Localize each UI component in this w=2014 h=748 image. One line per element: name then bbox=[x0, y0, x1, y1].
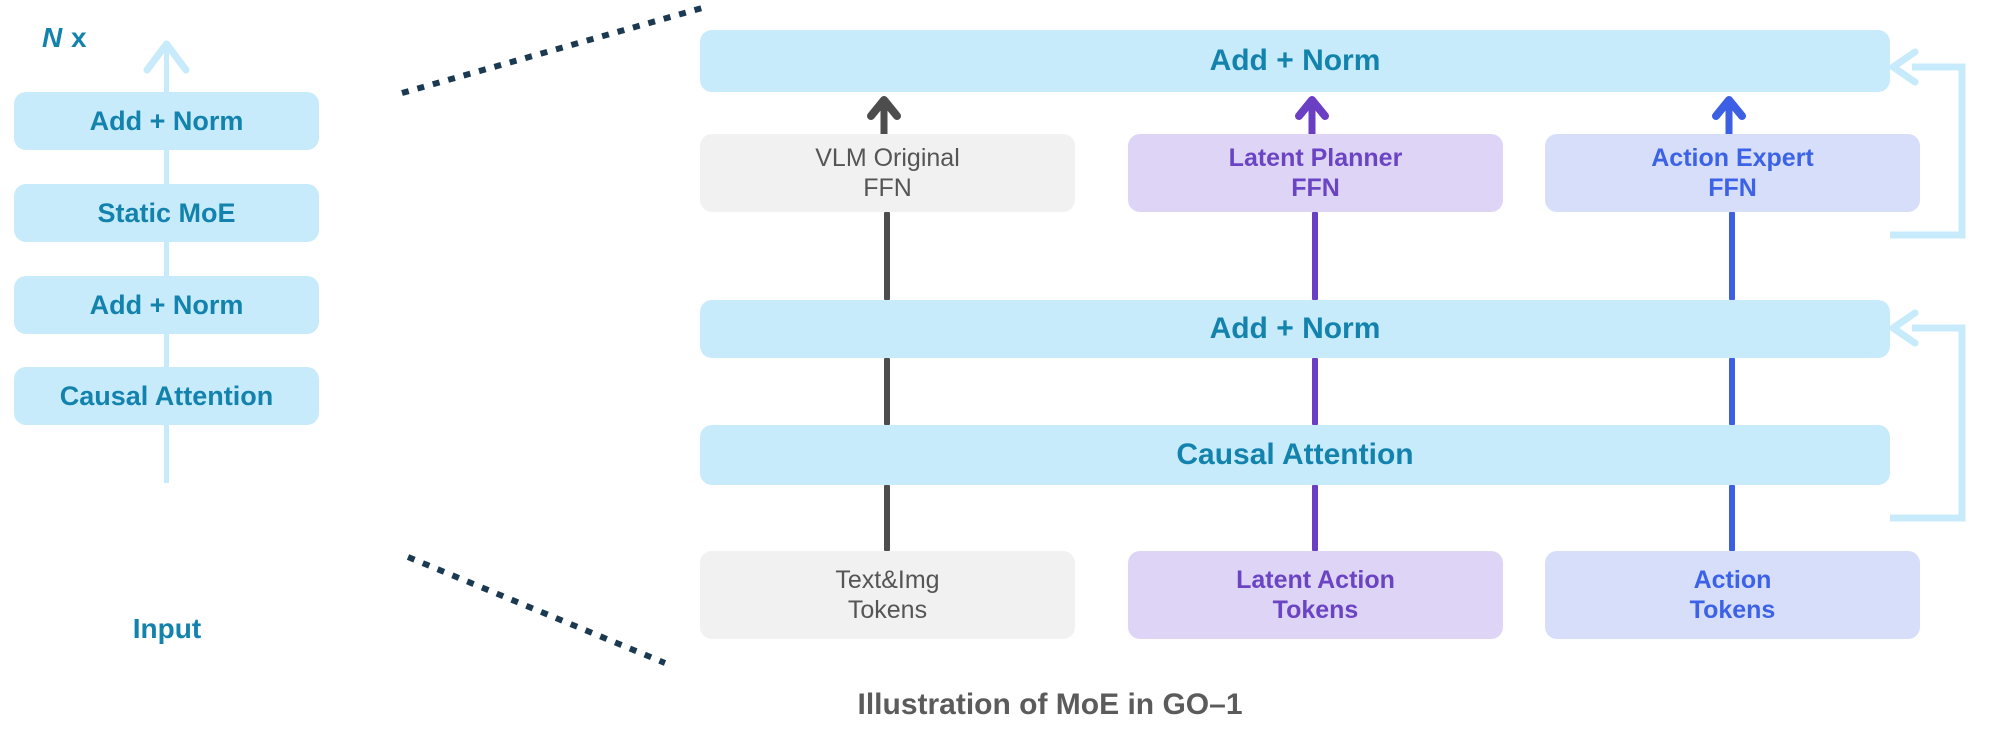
left-connector-top bbox=[164, 50, 169, 94]
connector-vlm-ffn-down bbox=[884, 212, 890, 300]
ffn-action-expert-label: Action ExpertFFN bbox=[1651, 143, 1814, 204]
dotted-guide-lower-icon bbox=[408, 557, 665, 663]
repeat-count-label: N x bbox=[42, 22, 87, 54]
arrow-vlm-ffn-up-icon bbox=[871, 100, 897, 134]
connector-action-ffn-down bbox=[1729, 212, 1735, 300]
arrow-action-ffn-up-icon bbox=[1716, 100, 1742, 134]
connector-action-token-up bbox=[1729, 485, 1735, 551]
left-connector-input bbox=[164, 425, 169, 483]
left-block-static-moe: Static MoE bbox=[14, 184, 319, 242]
repeat-count-n: N bbox=[42, 22, 63, 53]
right-causal-attention: Causal Attention bbox=[700, 425, 1890, 485]
connector-vlm-token-up bbox=[884, 485, 890, 551]
figure-caption: Illustration of MoE in GO–1 bbox=[700, 688, 1400, 722]
left-input-label: Input bbox=[92, 613, 242, 645]
repeat-count-x: x bbox=[71, 22, 87, 53]
dotted-guide-upper-icon bbox=[402, 8, 702, 93]
connector-planner-ffn-down bbox=[1312, 212, 1318, 300]
connector-action-mid-down bbox=[1729, 358, 1735, 425]
connector-planner-token-up bbox=[1312, 485, 1318, 551]
left-connector-2 bbox=[164, 242, 169, 278]
ffn-vlm-label: VLM OriginalFFN bbox=[815, 143, 960, 204]
ffn-box-action-expert: Action ExpertFFN bbox=[1545, 134, 1920, 212]
token-action-label: ActionTokens bbox=[1690, 565, 1776, 626]
left-connector-1 bbox=[164, 150, 169, 186]
ffn-latent-planner-label: Latent PlannerFFN bbox=[1229, 143, 1403, 204]
connector-vlm-mid-down bbox=[884, 358, 890, 425]
left-connector-3 bbox=[164, 334, 169, 369]
residual-connection-lower-icon bbox=[1890, 313, 1962, 518]
right-add-norm-mid: Add + Norm bbox=[700, 300, 1890, 358]
token-latent-action-label: Latent ActionTokens bbox=[1236, 565, 1395, 626]
diagram-canvas: N x Add + Norm Static MoE Add + Norm Cau… bbox=[0, 0, 2014, 748]
token-box-action: ActionTokens bbox=[1545, 551, 1920, 639]
token-text-img-label: Text&ImgTokens bbox=[835, 565, 939, 626]
left-block-add-norm-top: Add + Norm bbox=[14, 92, 319, 150]
ffn-box-latent-planner: Latent PlannerFFN bbox=[1128, 134, 1503, 212]
left-block-add-norm-bottom: Add + Norm bbox=[14, 276, 319, 334]
connector-planner-mid-down bbox=[1312, 358, 1318, 425]
token-box-text-img: Text&ImgTokens bbox=[700, 551, 1075, 639]
ffn-box-vlm-original: VLM OriginalFFN bbox=[700, 134, 1075, 212]
arrow-planner-ffn-up-icon bbox=[1299, 100, 1325, 134]
right-add-norm-top: Add + Norm bbox=[700, 30, 1890, 92]
left-block-causal-attention: Causal Attention bbox=[14, 367, 319, 425]
token-box-latent-action: Latent ActionTokens bbox=[1128, 551, 1503, 639]
